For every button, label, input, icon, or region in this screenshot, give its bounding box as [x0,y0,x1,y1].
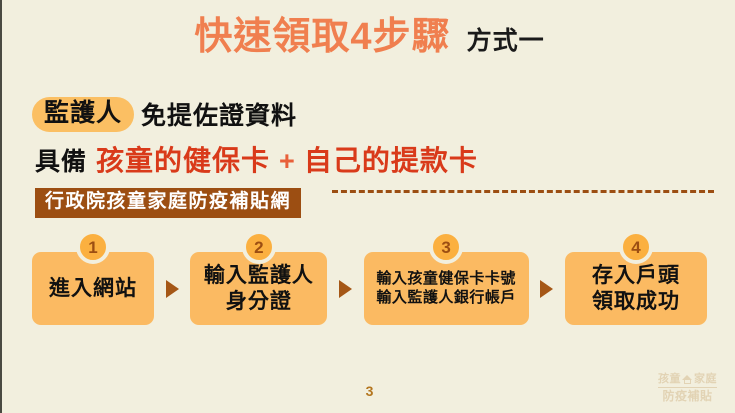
requirement-line-2: 具備 孩童的健保卡 + 自己的提款卡 [35,139,478,179]
arrow-right-icon [339,280,352,298]
step-3-line-1: 輸入孩童健保卡卡號 [376,270,516,288]
dashed-divider [332,190,714,193]
page-number: 3 [2,383,735,399]
step-2[interactable]: 2 輸入監護人 身分證 [190,230,327,325]
step-4-line-2: 領取成功 [592,289,680,315]
step-4-line-1: 存入戶頭 [592,263,680,289]
logo-text-right: 家庭 [694,373,717,386]
slide-root: 快速領取4步驟 方式一 監護人 免提佐證資料 具備 孩童的健保卡 + 自己的提款… [0,0,735,413]
step-2-number-badge: 2 [242,230,276,264]
website-banner: 行政院孩童家庭防疫補貼網 [35,188,301,218]
step-4-number-badge: 4 [619,230,653,264]
step-arrow-1 [154,230,190,325]
requirement-line-1: 監護人 免提佐證資料 [32,96,297,132]
step-2-line-2: 身分證 [226,289,292,315]
watermark-logo: 孩童 家庭 防疫補貼 [658,373,717,403]
step-1[interactable]: 1 進入網站 [32,230,154,325]
title-main-text: 快速領取4步驟 [194,18,450,56]
step-arrow-3 [529,230,565,325]
step-1-line-1: 進入網站 [49,276,137,302]
logo-top-row: 孩童 家庭 [658,373,717,388]
arrow-right-icon [540,280,553,298]
logo-text-left: 孩童 [658,373,681,386]
logo-bottom-text: 防疫補貼 [658,388,717,403]
requirement-item-2-text: 自己的提款卡 [304,139,478,179]
page-title: 快速領取4步驟 方式一 [2,18,735,56]
requirement-item-1-text: 孩童的健保卡 [96,139,270,179]
step-3-number-badge: 3 [429,230,463,264]
step-1-number-badge: 1 [76,230,110,264]
step-arrow-2 [327,230,363,325]
step-3-line-2: 輸入監護人銀行帳戶 [376,289,516,307]
guardian-badge: 監護人 [32,97,134,132]
requirement-line-1-text: 免提佐證資料 [141,96,297,132]
house-icon [682,375,693,384]
plus-icon: + [279,146,295,177]
requirement-prefix-text: 具備 [35,142,87,178]
title-method-label: 方式一 [467,29,545,54]
step-3[interactable]: 3 輸入孩童健保卡卡號 輸入監護人銀行帳戶 [364,230,529,325]
step-2-line-1: 輸入監護人 [204,263,314,289]
steps-flow: 1 進入網站 2 輸入監護人 身分證 3 輸入孩童健保卡卡號 輸入監護人銀行帳戶 [32,230,707,325]
step-4[interactable]: 4 存入戶頭 領取成功 [565,230,707,325]
arrow-right-icon [166,280,179,298]
